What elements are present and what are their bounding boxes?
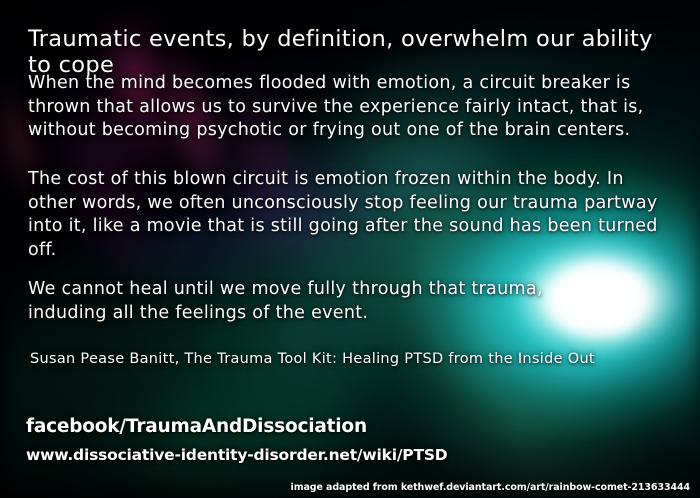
- image-credit: image adapted from kethwef.deviantart.co…: [291, 482, 690, 493]
- headline: Traumatic events, by definition, overwhe…: [28, 26, 678, 78]
- poster-content: Traumatic events, by definition, overwhe…: [0, 0, 700, 498]
- quote-attribution: Susan Pease Banitt, The Trauma Tool Kit:…: [30, 350, 670, 369]
- quote-paragraph-3: We cannot heal until we move fully throu…: [28, 278, 664, 325]
- quote-paragraph-1: When the mind becomes flooded with emoti…: [28, 72, 664, 143]
- quote-poster: Traumatic events, by definition, overwhe…: [0, 0, 700, 498]
- facebook-link[interactable]: facebook/TraumaAndDissociation: [26, 416, 367, 437]
- quote-paragraph-2: The cost of this blown circuit is emotio…: [28, 168, 664, 262]
- website-link[interactable]: www.dissociative-identity-disorder.net/w…: [26, 446, 447, 464]
